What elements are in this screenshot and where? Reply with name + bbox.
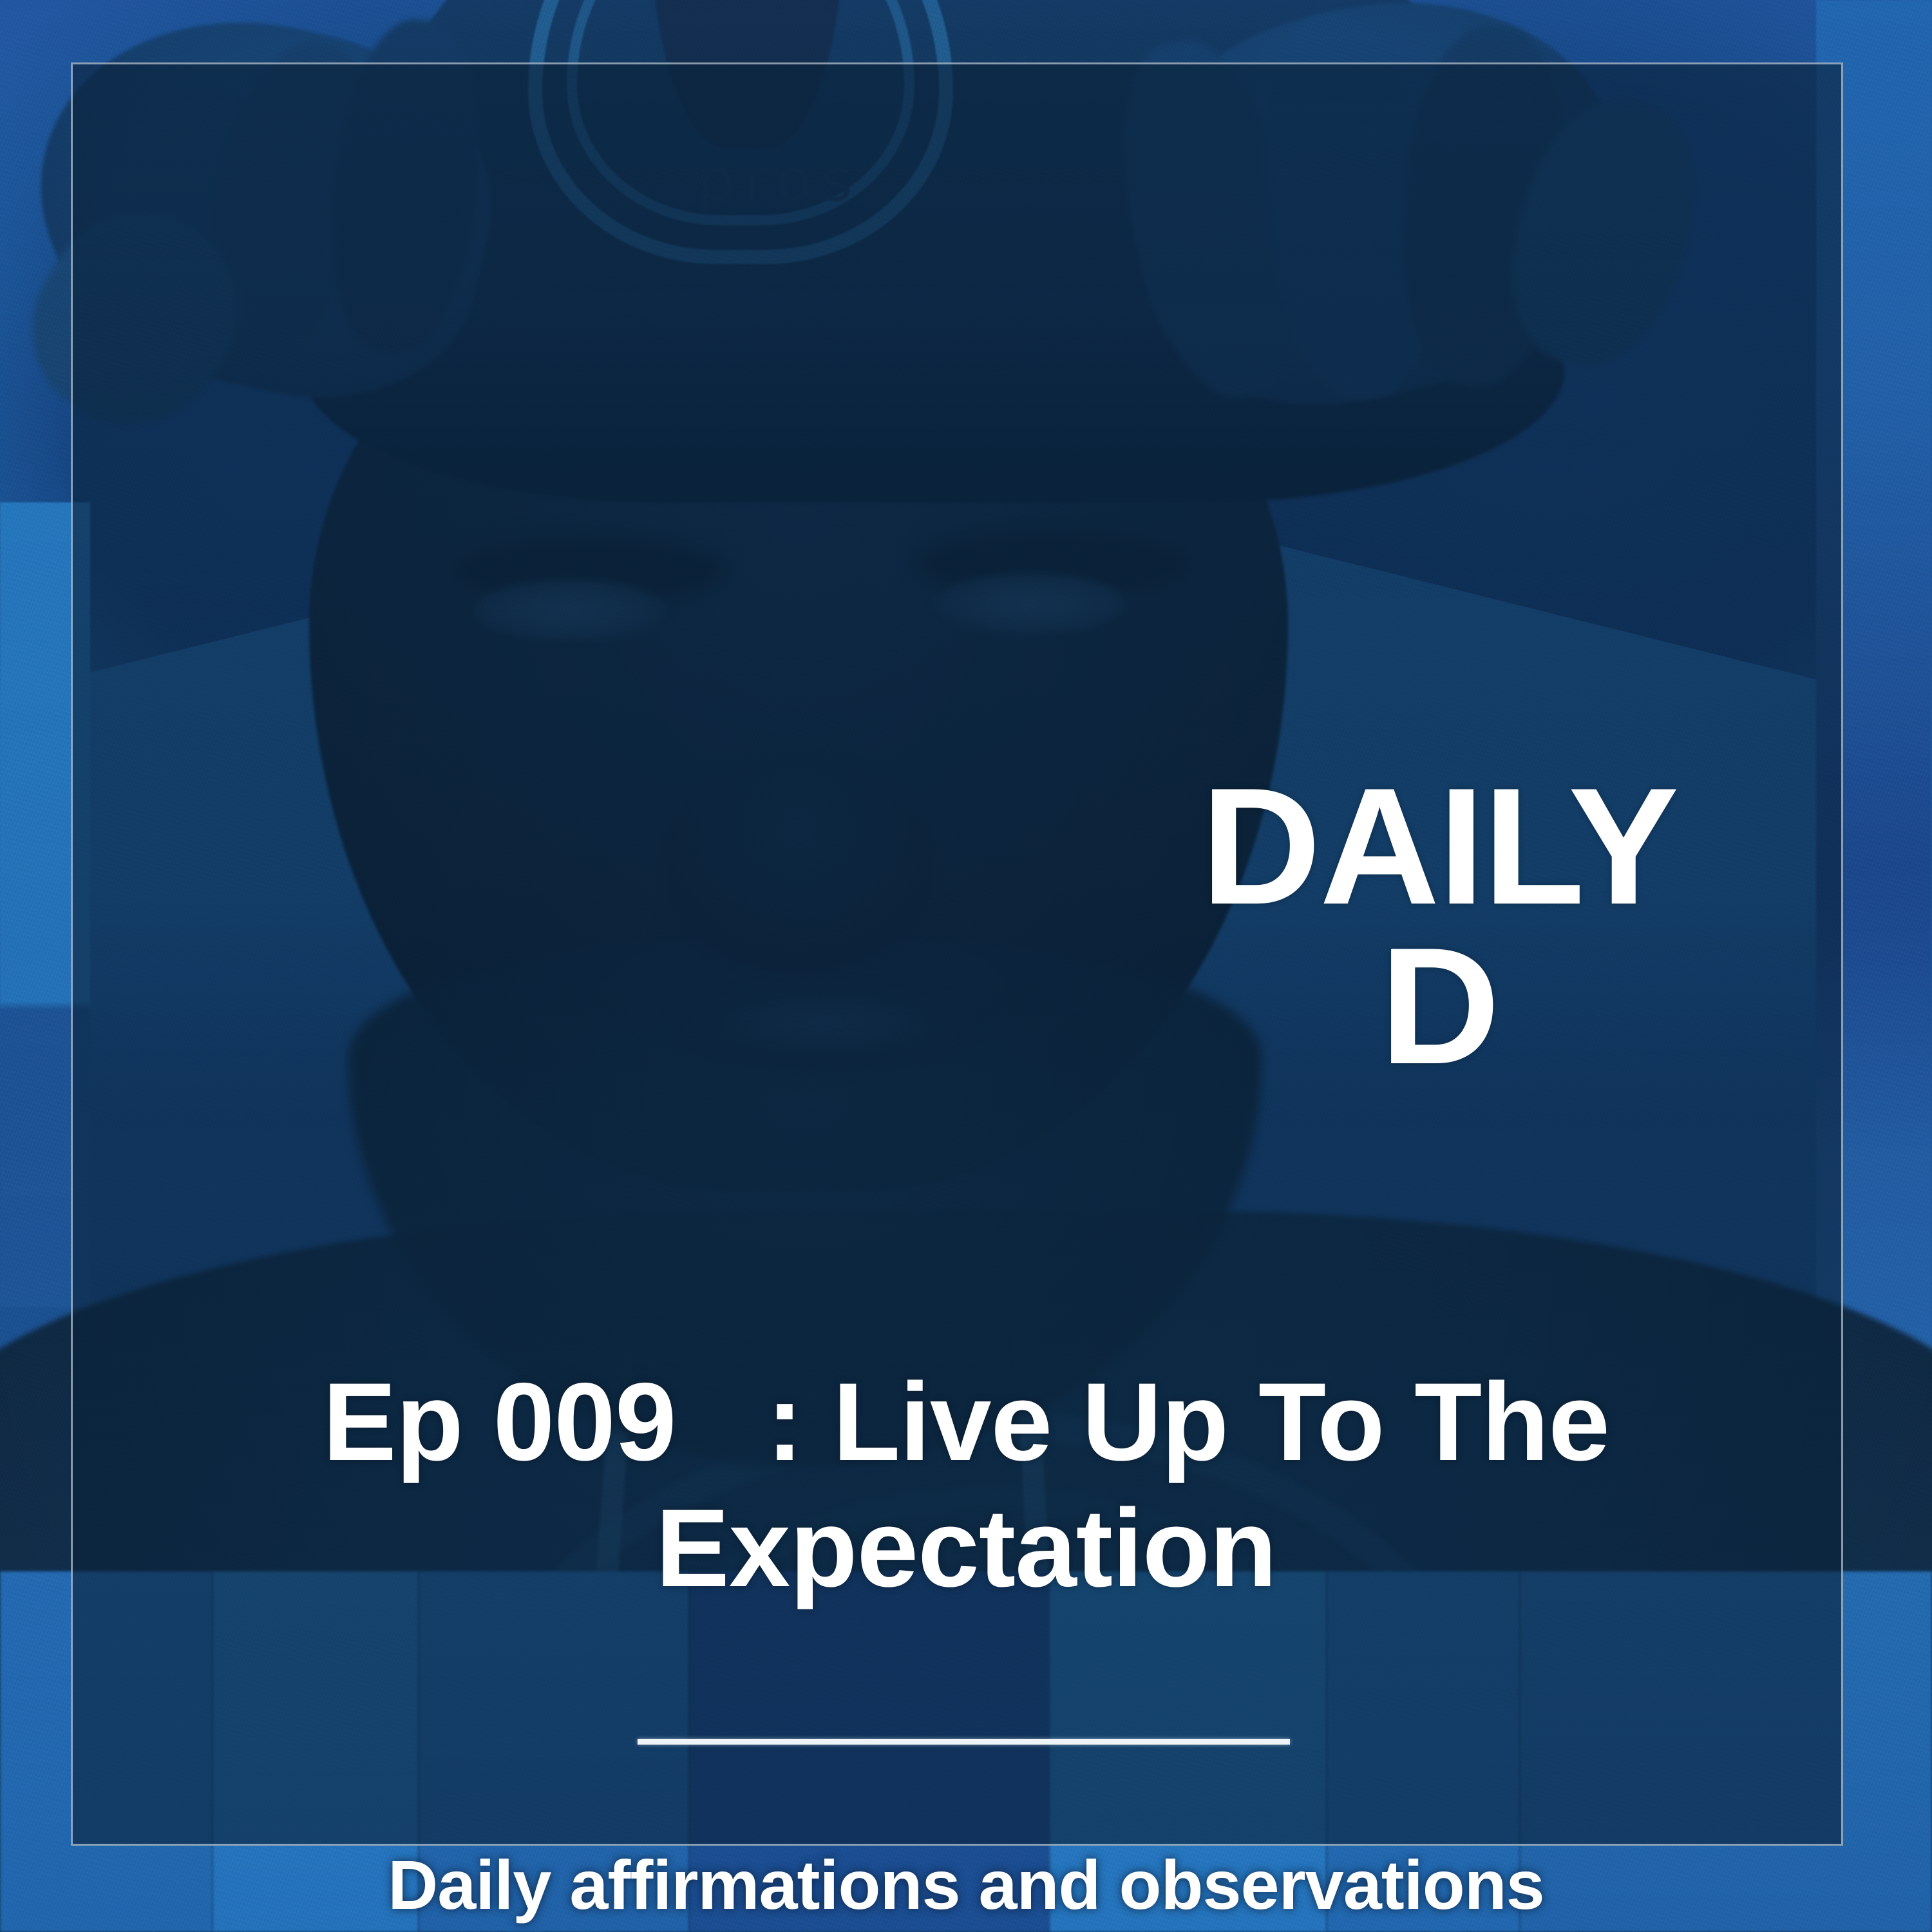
show-title-line-2: D: [1056, 926, 1823, 1086]
show-title: DAILY D: [1056, 766, 1823, 1085]
text-layer: DAILY D Ep 009 : Live Up To The Expectat…: [0, 0, 1932, 1932]
episode-title: Ep 009 : Live Up To The Expectation: [142, 1359, 1790, 1611]
tagline: Daily affirmations and observations: [142, 1844, 1790, 1925]
show-title-line-1: DAILY: [1056, 766, 1823, 926]
title-divider: [638, 1739, 1290, 1745]
cover-art-canvas: pros DAILY D Ep 0: [0, 0, 1932, 1932]
